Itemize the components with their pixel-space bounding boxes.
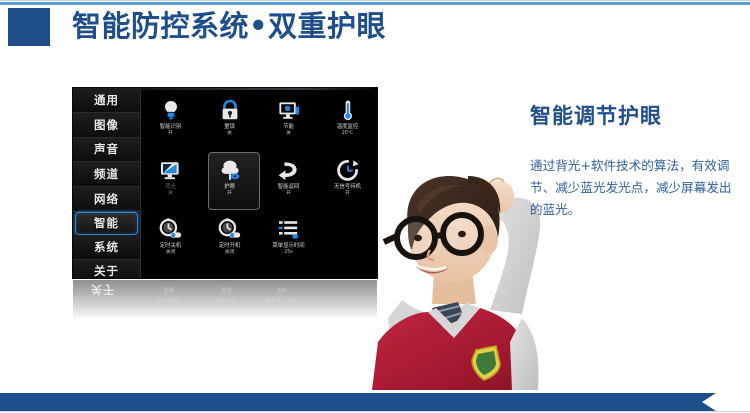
tv-menu-item-label: 背光 xyxy=(165,184,176,191)
tv-menu-item-value: 关闭 xyxy=(225,250,235,256)
sidebar-item-7[interactable]: 系统 xyxy=(73,235,140,260)
top-thin-rule xyxy=(0,0,750,1)
tv-menu-item-label: 智能识别 xyxy=(160,124,182,131)
tv-menu-item-value: 开 xyxy=(227,191,232,197)
sidebar-item-label: 智能 xyxy=(94,215,119,231)
sidebar-item-label: 网络 xyxy=(94,191,119,207)
tv-menu-item-label: 智能返回 xyxy=(278,184,300,191)
backlight-screen-icon xyxy=(156,158,186,182)
thermometer-icon xyxy=(333,98,363,122)
footer-bar-tip xyxy=(702,393,716,411)
tv-menu-item-label: 温度监控 xyxy=(337,124,359,131)
sidebar-item-label: 图像 xyxy=(94,117,119,133)
tv-menu-item-label: 定时关机 xyxy=(160,243,182,250)
sidebar-item-2[interactable]: 图像 xyxy=(73,113,140,138)
eye-care-tree-icon xyxy=(215,158,245,182)
reflection-sub-value-2: 关闭 xyxy=(221,286,232,294)
tv-menu-item-value: 关闭 xyxy=(166,250,176,256)
tv-menu-item-无信号待机[interactable]: 无信号待机开 xyxy=(318,154,377,213)
padlock-icon xyxy=(215,98,245,122)
reflection-label: 关于 xyxy=(91,282,115,298)
sidebar-item-4[interactable]: 频道 xyxy=(73,162,140,187)
timer-on-icon xyxy=(215,217,245,241)
tv-menu-item-护眼[interactable]: 护眼开 xyxy=(200,154,259,213)
section-body-text: 通过背光+软件技术的算法，有效调节、减少蓝光发光点，减少屏幕发出的蓝光。 xyxy=(530,155,742,221)
sidebar-item-label: 关于 xyxy=(94,263,119,278)
tv-menu-item-定时开机[interactable]: 定时开机关闭 xyxy=(200,213,259,272)
timer-off-icon xyxy=(156,217,186,241)
sidebar-item-1[interactable]: 通用 xyxy=(73,88,140,113)
tv-menu-item-节能[interactable]: 节能关 xyxy=(259,94,318,153)
slide-page: 智能防控系统•双重护眼 通用图像声音频道网络智能系统关于 智能识别开童锁关节能关… xyxy=(0,0,750,413)
tv-menu-item-背光[interactable]: 背光关 xyxy=(141,154,200,213)
tv-menu-item-label: 无信号待机 xyxy=(334,184,361,191)
sidebar-item-5[interactable]: 网络 xyxy=(73,187,140,212)
tv-grid-row-3: 定时关机关闭定时开机关闭菜单显示时间25s xyxy=(141,213,377,272)
eye-left xyxy=(414,235,422,241)
tv-menu-item-value: 关 xyxy=(227,131,232,137)
return-arrow-icon xyxy=(274,158,304,182)
tv-menu-item-label: 定时开机 xyxy=(219,243,241,250)
no-signal-standby-clock-icon xyxy=(333,158,363,182)
tv-icon-grid: 智能识别开童锁关节能关温度监控20℃ 背光关护眼开智能返回开无信号待机开 定时关… xyxy=(141,88,377,278)
tv-sidebar: 通用图像声音频道网络智能系统关于 xyxy=(73,88,141,278)
sidebar-item-3[interactable]: 声音 xyxy=(73,138,140,163)
tv-grid-row-2: 背光关护眼开智能返回开无信号待机开 xyxy=(141,154,377,213)
tv-panel: 通用图像声音频道网络智能系统关于 智能识别开童锁关节能关温度监控20℃ 背光关护… xyxy=(73,88,377,278)
sidebar-item-label: 通用 xyxy=(94,92,119,108)
tv-menu-item-value: 开 xyxy=(286,191,291,197)
tv-menu-item-value: 关 xyxy=(286,131,291,137)
menu-list-icon xyxy=(274,217,304,241)
reflection-sub-value-3: 25s xyxy=(277,286,287,292)
reflection-sub-label-2: 定时开机 xyxy=(215,295,237,303)
tv-menu-screenshot: 通用图像声音频道网络智能系统关于 智能识别开童锁关节能关温度监控20℃ 背光关护… xyxy=(73,88,377,278)
header: 智能防控系统•双重护眼 xyxy=(0,6,750,54)
tv-menu-empty-cell xyxy=(318,213,377,272)
tv-grid-row-1: 智能识别开童锁关节能关温度监控20℃ xyxy=(141,94,377,153)
tv-menu-item-温度监控[interactable]: 温度监控20℃ xyxy=(318,94,377,153)
reflection-sub-label-1: 定时关机 xyxy=(157,295,179,303)
tv-menu-item-label: 菜单显示时间 xyxy=(272,243,304,250)
tv-menu-item-label: 护眼 xyxy=(224,184,235,191)
header-accent-block xyxy=(8,8,50,46)
footer-rule xyxy=(0,411,750,412)
tv-menu-item-童锁[interactable]: 童锁关 xyxy=(200,94,259,153)
lightbulb-icon xyxy=(156,98,186,122)
tv-menu-item-value: 20℃ xyxy=(342,131,354,137)
sidebar-item-8[interactable]: 关于 xyxy=(73,260,140,279)
tv-menu-item-value: 关 xyxy=(168,191,173,197)
footer-bar xyxy=(0,393,702,411)
tv-menu-item-label: 童锁 xyxy=(224,124,235,131)
page-title: 智能防控系统•双重护眼 xyxy=(72,4,386,48)
tv-menu-item-label: 节能 xyxy=(283,124,294,131)
tv-menu-item-智能识别[interactable]: 智能识别开 xyxy=(141,94,200,153)
sidebar-item-label: 频道 xyxy=(94,166,119,182)
reflection-sub-value-1: 关闭 xyxy=(163,286,174,294)
tv-menu-item-智能返回[interactable]: 智能返回开 xyxy=(259,154,318,213)
section-heading: 智能调节护眼 xyxy=(530,100,662,130)
tv-menu-item-定时关机[interactable]: 定时关机关闭 xyxy=(141,213,200,272)
sidebar-item-6[interactable]: 智能 xyxy=(75,212,138,235)
monitor-power-icon xyxy=(274,98,304,122)
tv-panel-reflection: 关于 关闭 关闭 25s 定时关机 定时开机 菜单显示时间 xyxy=(73,280,377,320)
tv-menu-item-value: 开 xyxy=(345,191,350,197)
sidebar-item-label: 声音 xyxy=(94,141,119,157)
tv-menu-item-菜单显示时间[interactable]: 菜单显示时间25s xyxy=(259,213,318,272)
tv-menu-item-value: 25s xyxy=(284,250,293,256)
eye-right xyxy=(458,231,466,237)
reflection-sub-label-3: 菜单显示时间 xyxy=(265,295,297,303)
tv-menu-item-value: 开 xyxy=(168,131,173,137)
sidebar-item-label: 系统 xyxy=(94,239,119,255)
